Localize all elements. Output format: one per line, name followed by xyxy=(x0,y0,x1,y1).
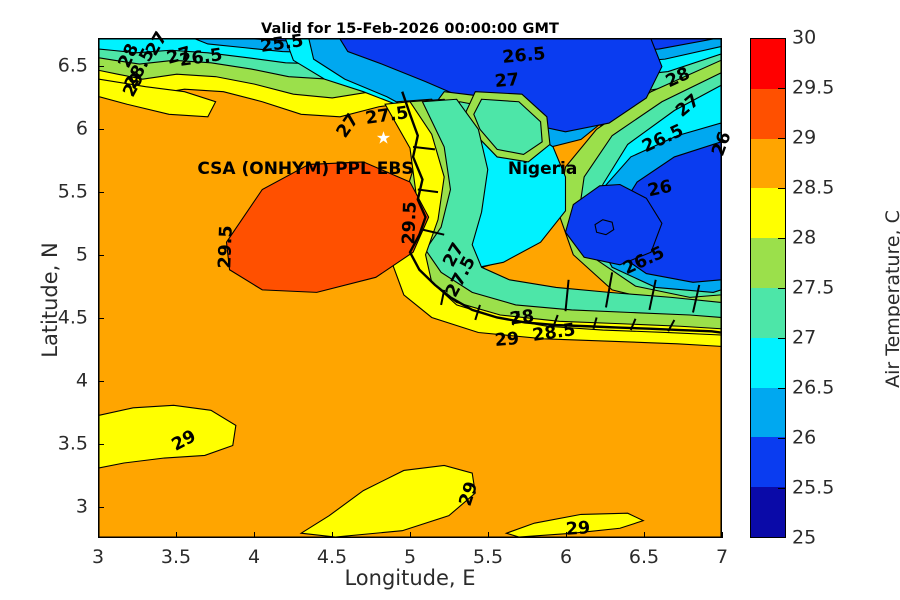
x-tick-label: 6.5 xyxy=(614,548,674,567)
colorbar-tick xyxy=(778,388,785,389)
contour-plot[interactable] xyxy=(98,38,722,538)
x-tick-label: 7 xyxy=(692,548,752,567)
y-tick xyxy=(98,66,104,67)
colorbar-tick xyxy=(778,338,785,339)
colorbar-tick-label: 29.5 xyxy=(792,79,834,98)
map-place-label: Nigeria xyxy=(508,159,577,179)
contour-label: 29 xyxy=(494,329,520,351)
colorbar-tick-label: 30 xyxy=(792,29,816,48)
colorbar-tick xyxy=(778,288,785,289)
colorbar-tick-label: 28.5 xyxy=(792,179,834,198)
x-tick xyxy=(644,532,645,538)
y-tick xyxy=(98,444,104,445)
colorbar-tick-label: 26 xyxy=(792,429,816,448)
x-tick xyxy=(722,532,723,538)
contour-label: 29.5 xyxy=(215,225,236,269)
map-place-label: CSA (ONHYM) PPL EBS xyxy=(197,159,413,179)
contour-label: 29.5 xyxy=(399,201,420,245)
y-tick xyxy=(98,255,104,256)
y-tick xyxy=(98,129,104,130)
y-tick xyxy=(98,381,104,382)
colorbar-tick-label: 29 xyxy=(792,129,816,148)
page-title: Valid for 15-Feb-2026 00:00:00 GMT xyxy=(98,21,722,37)
x-tick-label: 6 xyxy=(536,548,596,567)
colorbar-band[interactable] xyxy=(751,338,785,388)
colorbar-tick-label: 25.5 xyxy=(792,479,834,498)
colorbar-tick-label: 27 xyxy=(792,329,816,348)
x-tick xyxy=(176,532,177,538)
colorbar-tick-label: 28 xyxy=(792,229,816,248)
colorbar-tick-label: 26.5 xyxy=(792,379,834,398)
y-tick-label: 3.5 xyxy=(36,434,88,453)
colorbar-band[interactable] xyxy=(751,288,785,338)
contour-label: 26.5 xyxy=(501,44,546,68)
colorbar-tick-label: 25 xyxy=(792,529,816,548)
contour-label: 29 xyxy=(566,518,592,540)
colorbar-tick xyxy=(778,488,785,489)
x-tick-label: 4.5 xyxy=(302,548,362,567)
x-tick-label: 4 xyxy=(224,548,284,567)
x-tick-label: 5.5 xyxy=(458,548,518,567)
x-tick-label: 3.5 xyxy=(146,548,206,567)
colorbar-band[interactable] xyxy=(751,437,785,487)
x-tick xyxy=(332,532,333,538)
colorbar-title: Air Temperature, C xyxy=(882,169,900,429)
x-tick xyxy=(410,532,411,538)
y-tick-label: 6.5 xyxy=(36,56,88,75)
y-tick-label: 3 xyxy=(36,497,88,516)
y-tick xyxy=(98,318,104,319)
contour-field xyxy=(99,39,721,537)
x-tick xyxy=(98,532,99,538)
x-tick xyxy=(254,532,255,538)
colorbar-band[interactable] xyxy=(751,89,785,139)
colorbar-tick xyxy=(778,138,785,139)
x-tick-label: 5 xyxy=(380,548,440,567)
station-star-icon: ★ xyxy=(376,130,391,147)
colorbar-tick xyxy=(778,238,785,239)
colorbar-band[interactable] xyxy=(751,238,785,288)
y-tick xyxy=(98,192,104,193)
colorbar-band[interactable] xyxy=(751,139,785,189)
x-tick-label: 3 xyxy=(68,548,128,567)
contour-label: 27 xyxy=(494,70,520,92)
colorbar-tick-label: 27.5 xyxy=(792,279,834,298)
colorbar-tick xyxy=(778,438,785,439)
colorbar-band[interactable] xyxy=(751,188,785,238)
colorbar-band[interactable] xyxy=(751,39,785,89)
y-tick-label: 6 xyxy=(36,119,88,138)
colorbar-tick xyxy=(778,88,785,89)
colorbar-band[interactable] xyxy=(751,487,785,537)
colorbar-tick xyxy=(778,188,785,189)
colorbar-band[interactable] xyxy=(751,388,785,438)
x-tick xyxy=(488,532,489,538)
y-axis-title: Latitude, N xyxy=(38,190,62,410)
y-tick xyxy=(98,507,104,508)
x-axis-title: Longitude, E xyxy=(98,566,722,590)
figure-canvas: Valid for 15-Feb-2026 00:00:00 GMT 33.54… xyxy=(0,0,900,600)
